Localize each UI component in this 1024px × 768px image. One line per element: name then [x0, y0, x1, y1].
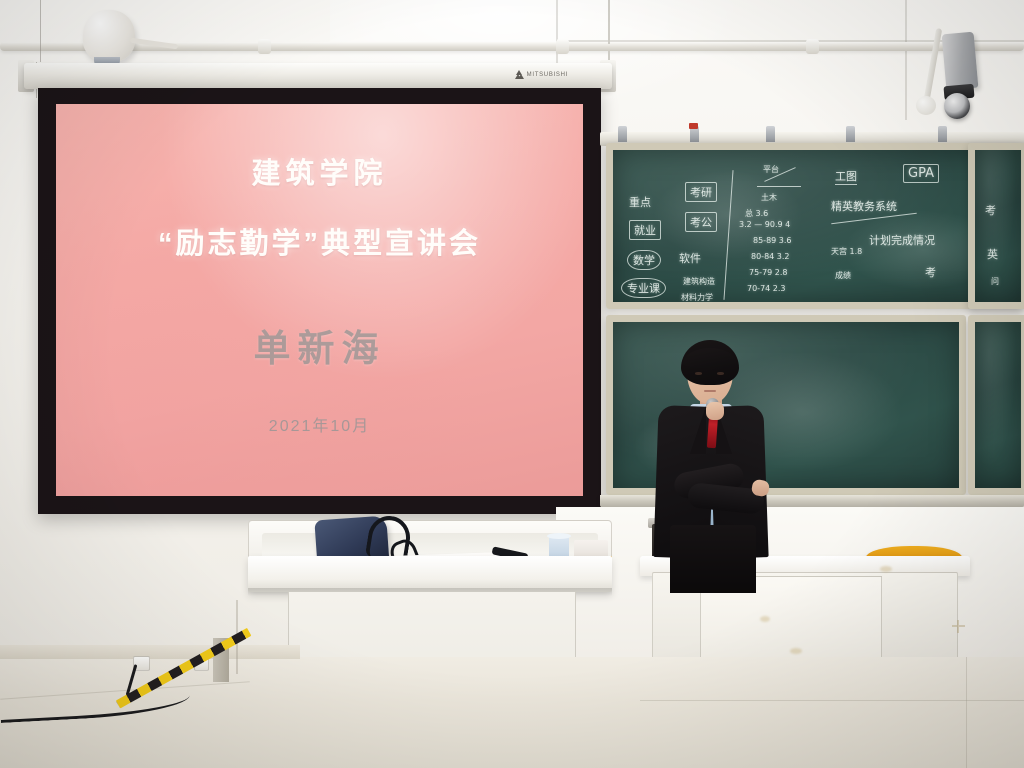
lectern-stain: [760, 616, 770, 622]
chalk-note: 3.2 — 90.9 4: [739, 220, 790, 229]
chalk-note: 85-89 3.6: [753, 236, 792, 245]
blackboard-clip: [618, 126, 627, 142]
chalk-note: 问: [991, 276, 999, 287]
slide-organization: 建筑学院: [251, 150, 387, 192]
blackboard-main: 重点考研考公就业数学专业课软件平台土木总 3.63.2 — 90.9 485-8…: [606, 143, 1022, 309]
speaker-person: [648, 340, 778, 590]
chalk-underline: [831, 213, 916, 224]
lectern-mark: [952, 620, 965, 633]
chalk-note: 专业课: [621, 278, 666, 298]
chalk-note: 材料力学: [681, 292, 713, 303]
classroom-photo: MITSUBISHI 建筑学院 “励志勤学”典型宣讲会 单新海 2021年10月…: [0, 0, 1024, 768]
chalk-note: 考: [985, 202, 996, 218]
projector-screen-housing: MITSUBISHI: [24, 63, 612, 89]
blackboard-clip: [938, 126, 947, 142]
chalk-underline: [757, 186, 801, 187]
chalk-note: 总 3.6: [745, 208, 768, 219]
slide-surface: 建筑学院 “励志勤学”典型宣讲会 单新海 2021年10月: [56, 104, 583, 496]
chalk-note: 精英教务系统: [831, 198, 897, 214]
chalk-note: 计划完成情况: [869, 232, 935, 248]
chalk-note: 75-79 2.8: [749, 268, 788, 277]
lectern-stain: [880, 566, 892, 572]
chalk-note: 天宫 1.8: [831, 246, 862, 257]
blackboard-clip: [766, 126, 775, 142]
floor-tile-line: [966, 657, 967, 768]
wall-skirting: [0, 645, 300, 659]
chalk-note: 80-84 3.2: [751, 252, 790, 261]
chalk-note: 考研: [685, 182, 717, 202]
conduit-drop-wire: [608, 0, 610, 44]
cup-rim: [547, 533, 571, 539]
person-hand-holding-mic: [706, 402, 724, 420]
slide-date: 2021年10月: [269, 412, 370, 436]
screen-brand-text: MITSUBISHI: [527, 72, 568, 78]
conduit-joint: [556, 39, 569, 54]
chalk-note: 数学: [627, 250, 661, 270]
slide-speaker-name: 单新海: [254, 318, 386, 372]
chalk-note: 重点: [629, 194, 651, 210]
lectern-stain: [790, 648, 802, 654]
wall-speaker-icon: [83, 10, 135, 62]
conduit-joint: [806, 39, 819, 54]
screen-brand-label: MITSUBISHI: [515, 71, 568, 79]
chalk-divider: [723, 170, 733, 300]
projection-screen: 建筑学院 “励志勤学”典型宣讲会 单新海 2021年10月: [38, 88, 601, 514]
blackboard-clip: [690, 126, 699, 142]
chalk-note: 软件: [679, 250, 701, 266]
camera-lens-icon: [944, 93, 970, 119]
person-eye: [717, 372, 724, 375]
security-camera-icon: [942, 32, 979, 91]
chalk-note: 建筑构造: [683, 276, 715, 287]
conduit-joint: [258, 39, 271, 54]
blackboard-right-upper: 考英问: [968, 143, 1024, 309]
thin-wire: [40, 0, 41, 62]
chalk-note: 土木: [761, 192, 777, 203]
teacher-desk-top: [248, 556, 612, 592]
chalk-note: 考: [925, 264, 936, 280]
person-mouth: [704, 390, 716, 392]
person-eye: [695, 372, 702, 375]
chalk-note: 70-74 2.3: [747, 284, 786, 293]
floor: [0, 657, 1024, 768]
person-coat-lower: [670, 525, 756, 593]
chalk-note: 工图: [835, 168, 857, 185]
slide-event-title: “励志勤学”典型宣讲会: [158, 220, 481, 262]
camera-knob: [916, 96, 936, 115]
chalk-note: 平台: [763, 164, 779, 175]
chalk-note: GPA: [903, 164, 939, 183]
chalk-note: 成绩: [835, 270, 851, 281]
chalk-note: 英: [987, 246, 998, 262]
blackboard-clip: [846, 126, 855, 142]
blackboard-right-lower: [968, 315, 1024, 495]
wall-seam: [905, 0, 907, 120]
mitsubishi-logo-icon: [515, 71, 524, 79]
chalk-note: 考公: [685, 212, 717, 232]
chalk-note: 就业: [629, 220, 661, 240]
